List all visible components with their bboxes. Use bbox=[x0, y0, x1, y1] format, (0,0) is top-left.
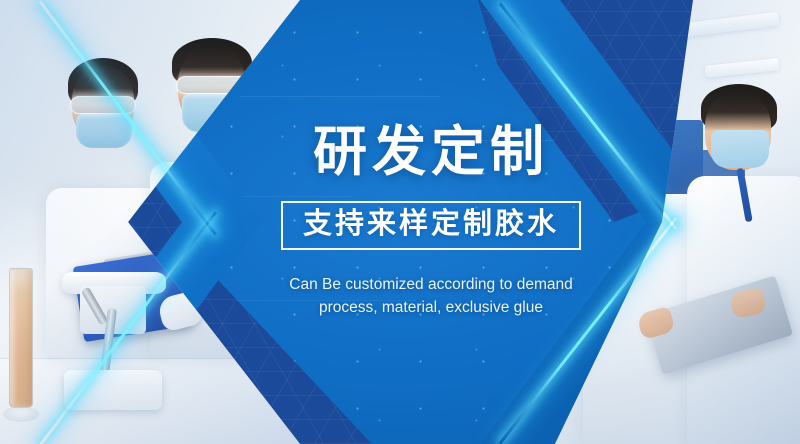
tagline: Can Be customized according to demand pr… bbox=[289, 274, 572, 319]
banner-text-block: 研发定制 支持来样定制胶水 Can Be customized accordin… bbox=[236, 0, 626, 444]
subtitle-text: 支持来样定制胶水 bbox=[303, 210, 559, 239]
product-banner: 研发定制 支持来样定制胶水 Can Be customized accordin… bbox=[0, 0, 800, 444]
tagline-line-1: Can Be customized according to demand bbox=[289, 274, 572, 296]
subtitle-box: 支持来样定制胶水 bbox=[281, 201, 581, 250]
tagline-line-2: process, material, exclusive glue bbox=[289, 297, 572, 319]
page-title: 研发定制 bbox=[313, 125, 549, 179]
